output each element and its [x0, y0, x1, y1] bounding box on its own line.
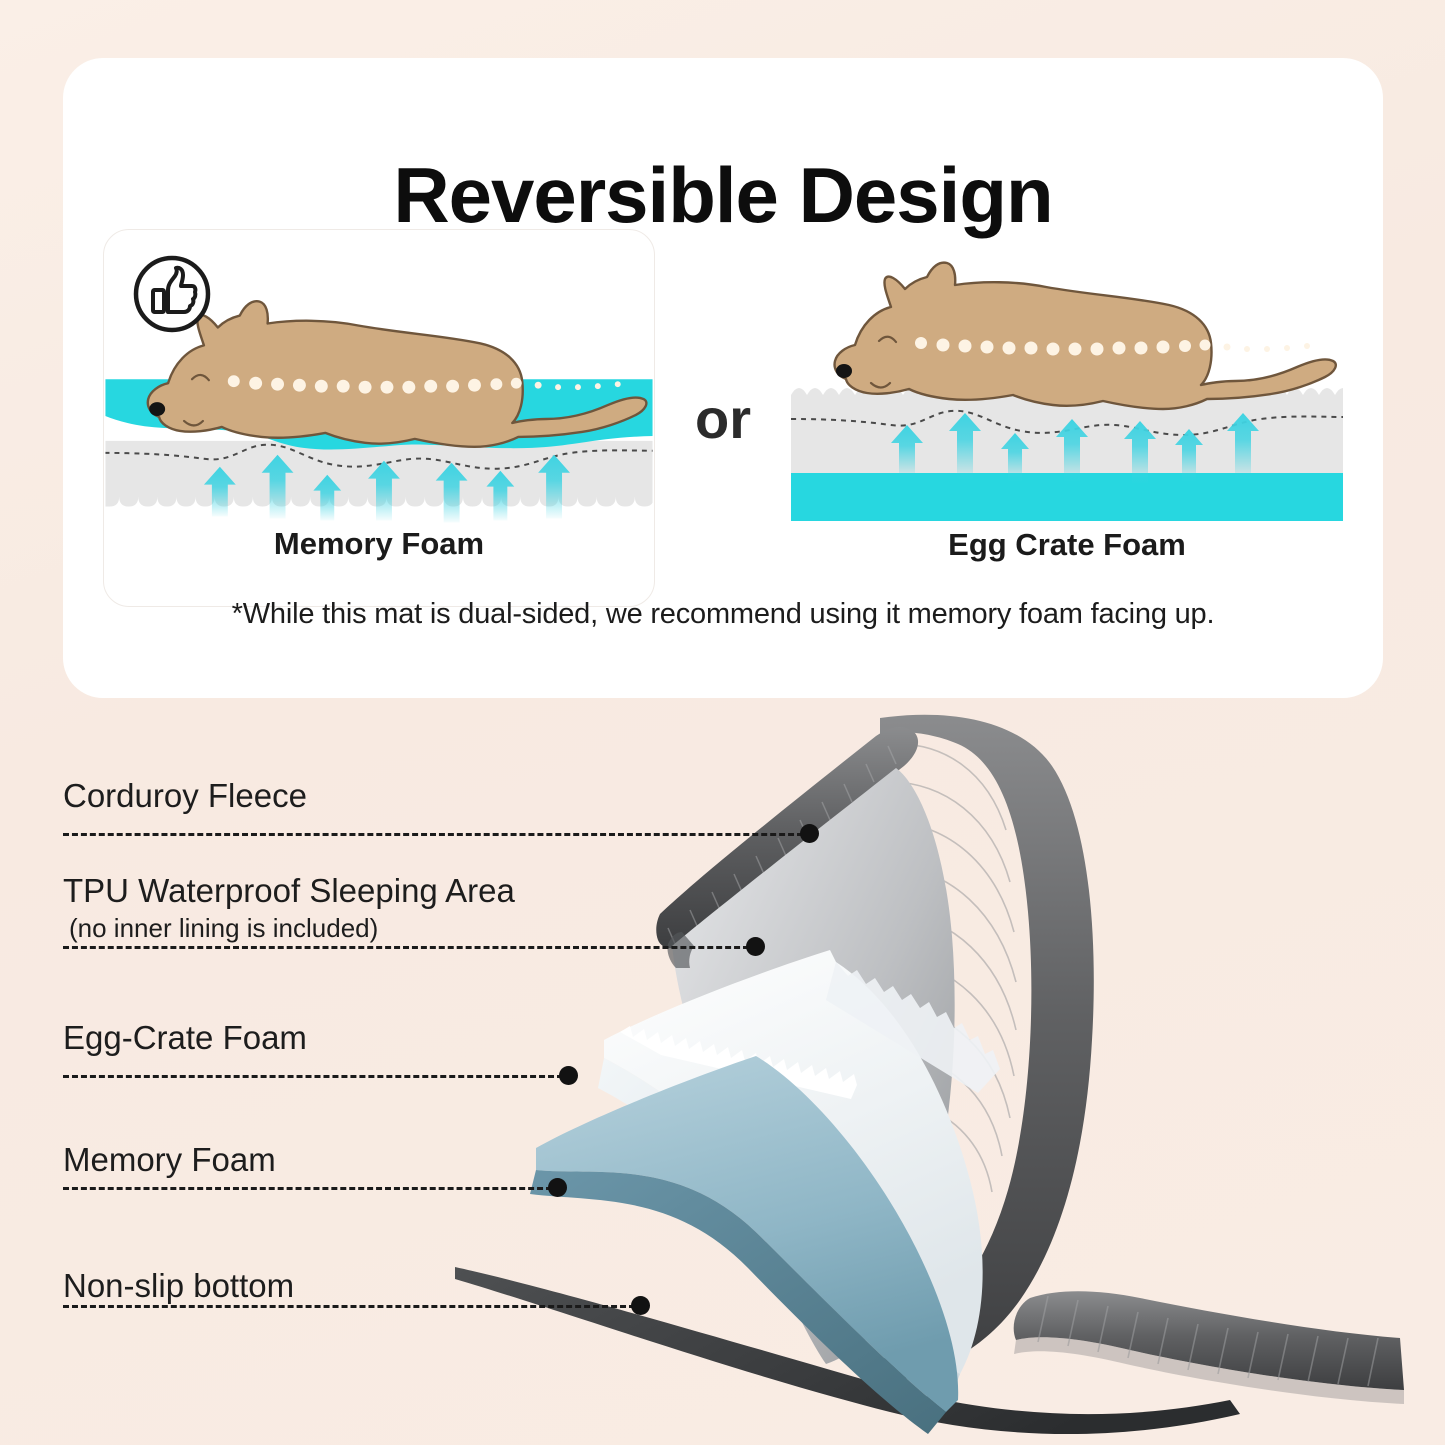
panel-memory-foam: Memory Foam — [103, 229, 655, 607]
callout-egg-crate: Egg-Crate Foam — [63, 1020, 307, 1057]
leader-dot-corduroy — [800, 824, 819, 843]
leader-dot-tpu — [746, 937, 765, 956]
leader-line-non-slip — [63, 1305, 635, 1308]
panel-label-memory-foam: Memory Foam — [104, 526, 654, 562]
callout-non-slip: Non-slip bottom — [63, 1268, 294, 1305]
infographic-root: Reversible Design — [0, 0, 1445, 1445]
callout-tpu: TPU Waterproof Sleeping Area (no inner l… — [63, 873, 515, 944]
callout-label: Corduroy Fleece — [63, 778, 307, 815]
callout-label: Non-slip bottom — [63, 1268, 294, 1305]
leader-line-tpu — [63, 946, 749, 949]
callout-sublabel: (no inner lining is included) — [63, 913, 515, 944]
reversible-design-card: Reversible Design — [63, 58, 1383, 698]
callout-label: Egg-Crate Foam — [63, 1020, 307, 1057]
divider-or: or — [655, 386, 791, 451]
panel-label-egg-crate-foam: Egg Crate Foam — [791, 527, 1343, 563]
dog-nose-right — [836, 364, 852, 378]
callout-corduroy-fleece: Corduroy Fleece — [63, 778, 307, 815]
footnote-text: *While this mat is dual-sided, we recomm… — [63, 598, 1383, 631]
layer-breakdown-section: Corduroy Fleece TPU Waterproof Sleeping … — [0, 700, 1445, 1445]
dog-illustration-left — [148, 301, 647, 447]
page-title: Reversible Design — [63, 156, 1383, 234]
thumbs-up-icon — [132, 254, 212, 334]
comparison-panels: Memory Foam or — [103, 228, 1343, 608]
panel-egg-crate-foam: Egg Crate Foam — [791, 229, 1343, 607]
leader-line-corduroy — [63, 833, 803, 836]
callout-label: TPU Waterproof Sleeping Area — [63, 873, 515, 910]
callout-memory-foam: Memory Foam — [63, 1142, 276, 1179]
dog-nose — [149, 402, 165, 416]
leader-dot-egg-crate — [559, 1066, 578, 1085]
leader-line-memory-foam — [63, 1187, 552, 1190]
dog-illustration-right — [835, 263, 1336, 409]
leader-dot-non-slip — [631, 1296, 650, 1315]
leader-line-egg-crate — [63, 1075, 563, 1078]
leader-dot-memory-foam — [548, 1178, 567, 1197]
callout-label: Memory Foam — [63, 1142, 276, 1179]
